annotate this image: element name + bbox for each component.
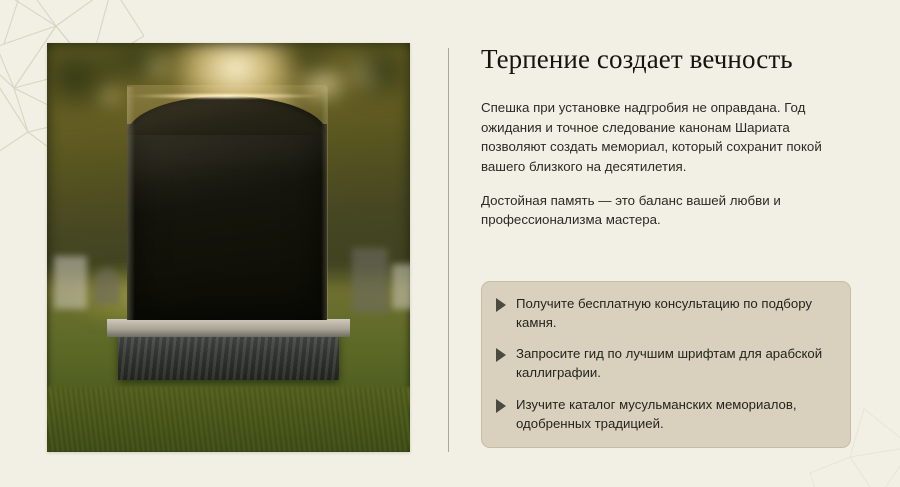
headstone-left-edge-highlight	[127, 87, 135, 320]
page-title: Терпение создает вечность	[481, 40, 853, 78]
column-divider	[448, 48, 449, 452]
list-item-label: Изучите каталог мусульманских мемориалов…	[516, 396, 834, 433]
list-item-label: Получите бесплатную консультацию по подб…	[516, 295, 834, 332]
background-stone	[54, 256, 87, 309]
cta-list-box: Получите бесплатную консультацию по подб…	[481, 281, 851, 448]
triangle-right-icon	[496, 348, 506, 362]
headstone-photo	[47, 43, 410, 452]
list-item-label: Запросите гид по лучшим шрифтам для араб…	[516, 345, 834, 382]
background-stone	[94, 268, 119, 305]
body-paragraph-2: Достойная память — это баланс вашей любв…	[481, 191, 849, 230]
list-item[interactable]: Запросите гид по лучшим шрифтам для араб…	[496, 345, 834, 382]
background-stone	[392, 264, 410, 309]
background-stone	[352, 248, 388, 313]
triangle-right-icon	[496, 298, 506, 312]
list-item[interactable]: Изучите каталог мусульманских мемориалов…	[496, 396, 834, 433]
list-item[interactable]: Получите бесплатную консультацию по подб…	[496, 295, 834, 332]
slide-root: Терпение создает вечность Спешка при уст…	[0, 0, 900, 487]
headstone-body	[127, 124, 327, 320]
triangle-right-icon	[496, 399, 506, 413]
headstone-right-edge-highlight	[321, 87, 328, 320]
headstone-base	[118, 331, 339, 380]
text-column: Терпение создает вечность Спешка при уст…	[481, 40, 853, 248]
body-paragraph-1: Спешка при установке надгробия не оправд…	[481, 98, 849, 176]
headstone-plinth	[107, 319, 350, 338]
photo-foreground-grass	[47, 387, 410, 452]
